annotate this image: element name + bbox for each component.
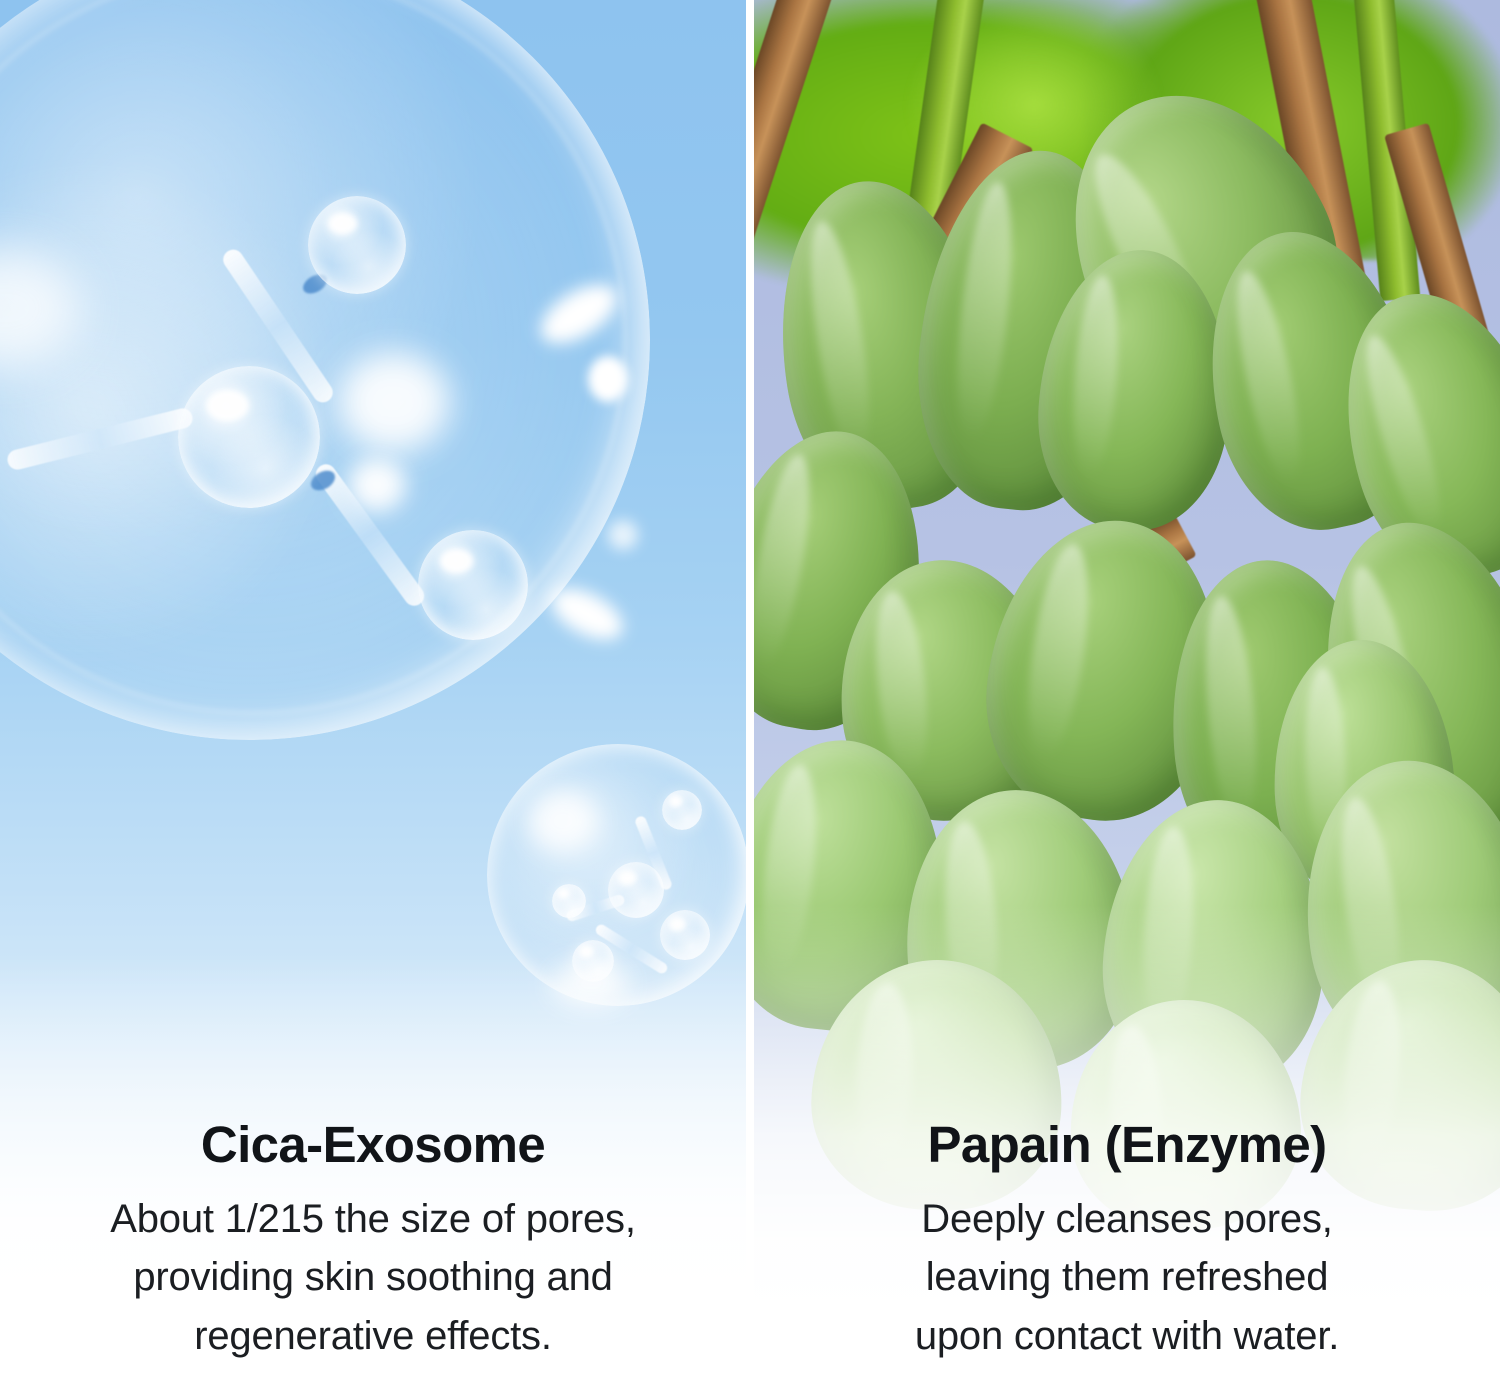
panel-divider (746, 0, 754, 1385)
bubble-specular-highlight (588, 356, 628, 402)
description-line: Deeply cleanses pores, (921, 1197, 1332, 1241)
description-line: regenerative effects. (194, 1314, 552, 1358)
ingredient-comparison-banner: Cica-Exosome About 1/215 the size of por… (0, 0, 1500, 1385)
description-line: About 1/215 the size of pores, (110, 1197, 635, 1241)
bubble-specular-highlight (608, 520, 638, 550)
panel-cica-exosome: Cica-Exosome About 1/215 the size of por… (0, 0, 746, 1385)
ingredient-title: Papain (Enzyme) (778, 1118, 1476, 1172)
caption-papain-enzyme: Papain (Enzyme) Deeply cleanses pores,le… (754, 1118, 1500, 1371)
description-line: upon contact with water. (915, 1314, 1339, 1358)
molecule-atom-sphere (308, 196, 406, 294)
description-line: leaving them refreshed (926, 1255, 1329, 1299)
ingredient-title: Cica-Exosome (24, 1118, 722, 1172)
ingredient-description: About 1/215 the size of pores,providing … (24, 1190, 722, 1365)
bokeh-highlight (338, 352, 450, 452)
description-line: providing skin soothing and (133, 1255, 612, 1299)
molecule-atom-sphere (178, 366, 320, 508)
caption-cica-exosome: Cica-Exosome About 1/215 the size of por… (0, 1118, 746, 1371)
panel-papain-enzyme: Papain (Enzyme) Deeply cleanses pores,le… (754, 0, 1500, 1385)
molecule-atom-sphere (418, 530, 528, 640)
ingredient-description: Deeply cleanses pores,leaving them refre… (778, 1190, 1476, 1365)
